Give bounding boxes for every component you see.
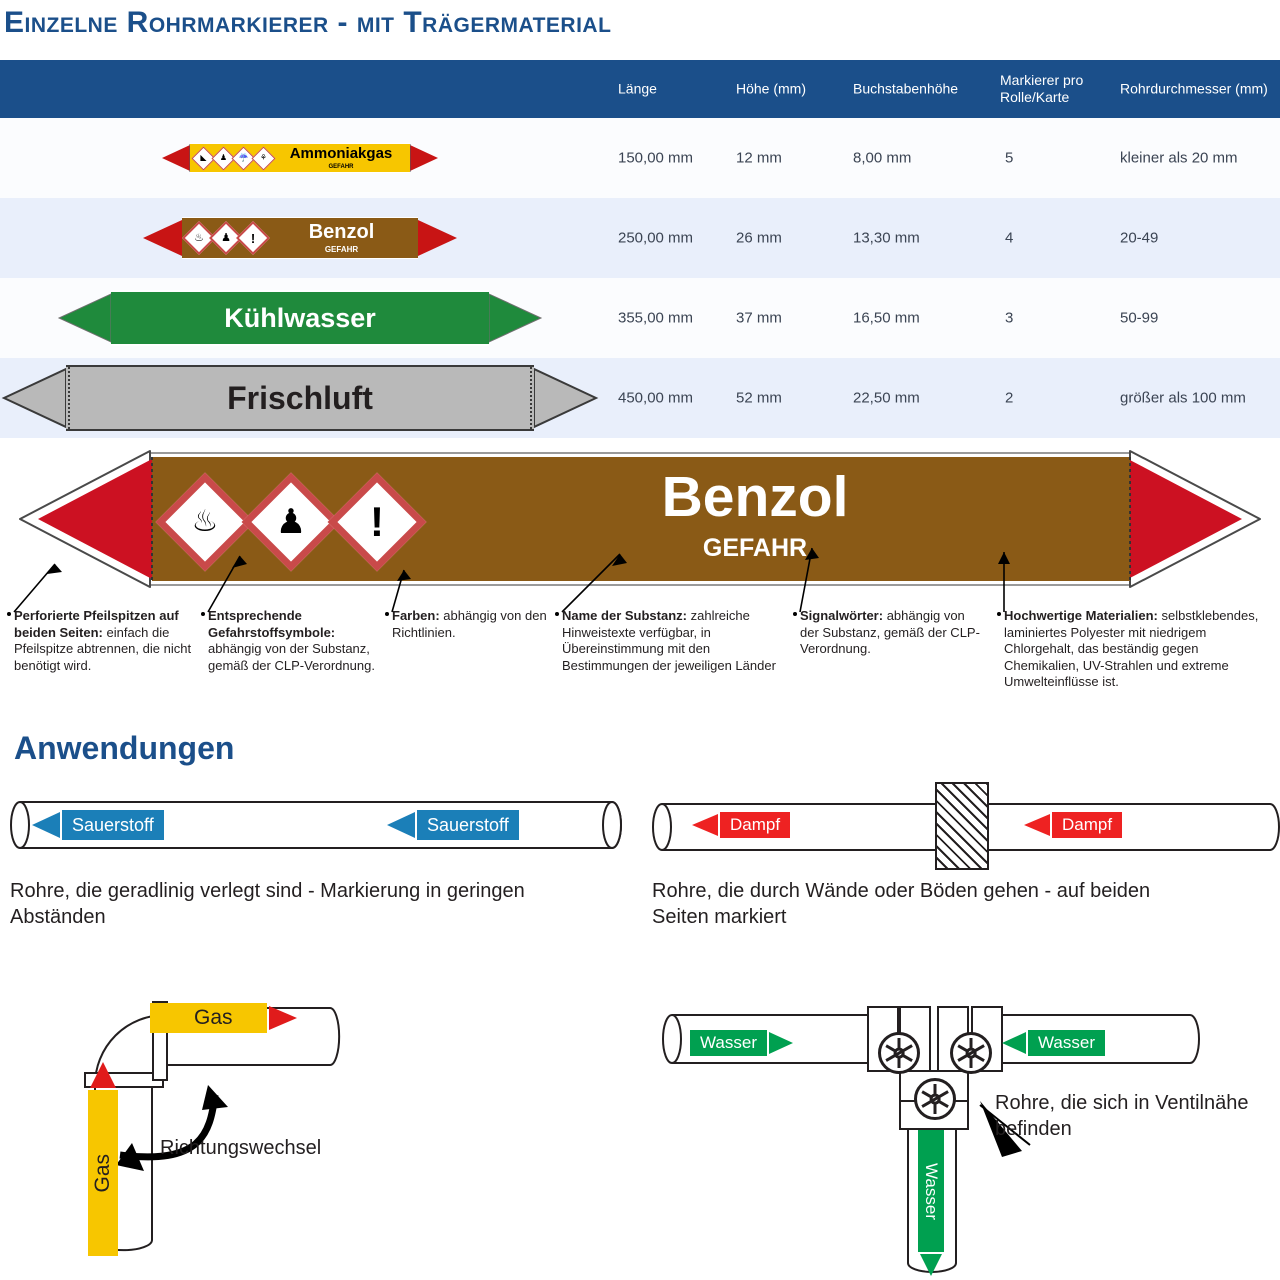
annotation-signalwoerter: Signalwörter: abhängig von der Substanz,… — [800, 608, 982, 658]
table-row: ◣ ♟ ☔ ⚘ Ammoniakgas GEFAHR 150,00 mm 12 … — [0, 118, 1280, 198]
arrow-tip-left — [160, 143, 190, 173]
cell-markierer-pro-rolle: 4 — [1005, 230, 1013, 247]
marker-preview-benzol: ♨ ♟ ! Benzol GEFAHR — [0, 198, 600, 278]
arrow-tip-left — [0, 365, 66, 431]
pictogram-group: ◣ ♟ ☔ ⚘ — [190, 150, 272, 167]
exclamation-icon: ! — [241, 226, 265, 250]
band-label: Wasser — [1028, 1033, 1105, 1053]
applications-heading: Anwendungen — [14, 730, 234, 767]
perforation-line-left — [68, 367, 70, 429]
annotation-title: Entsprechende Gefahrstoffsymbole: — [208, 608, 335, 640]
arrow-tip-left — [55, 290, 111, 346]
wall-hatch — [935, 782, 989, 870]
band-label: Gas — [91, 1154, 115, 1193]
marker-band-wasser-down: Wasser — [918, 1130, 944, 1278]
marker-band-sauerstoff-right: Sauerstoff — [385, 810, 519, 840]
marker-preview-frischluft: Frischluft — [0, 358, 600, 438]
arrow-tip-right — [410, 143, 440, 173]
column-header-hoehe: Höhe (mm) — [736, 81, 836, 98]
marker-body: ◣ ♟ ☔ ⚘ Ammoniakgas GEFAHR — [190, 143, 410, 173]
flame-icon: ♨ — [187, 226, 211, 250]
cell-laenge: 150,00 mm — [618, 150, 693, 167]
cell-buchstabenhoehe: 13,30 mm — [853, 230, 920, 247]
cell-hoehe: 37 mm — [736, 310, 782, 327]
marker-body: Frischluft — [66, 365, 534, 431]
annotation-bullet — [997, 612, 1001, 616]
table-row: Kühlwasser 355,00 mm 37 mm 16,50 mm 3 50… — [0, 278, 1280, 358]
cell-markierer-pro-rolle: 3 — [1005, 310, 1013, 327]
health-hazard-icon: ♟ — [215, 150, 232, 167]
caption-straight-pipe: Rohre, die geradlinig verlegt sind - Mar… — [10, 878, 570, 930]
band-label: Wasser — [921, 1163, 941, 1220]
marker-signal-word: GEFAHR — [325, 246, 358, 254]
pipe-marker-label: ◣ ♟ ☔ ⚘ Ammoniakgas GEFAHR — [160, 143, 440, 173]
annotation-bullet — [385, 612, 389, 616]
arrow-down-icon — [918, 1252, 944, 1278]
cell-rohrdurchmesser: 20-49 — [1120, 230, 1158, 247]
cell-hoehe: 12 mm — [736, 150, 782, 167]
arrow-right-icon — [767, 1030, 795, 1056]
band-label: Dampf — [720, 815, 790, 835]
corrosion-icon: ☔ — [235, 150, 252, 167]
arrow-tip-right — [534, 365, 600, 431]
marker-name: Kühlwasser — [224, 305, 376, 332]
annotation-bullet — [793, 612, 797, 616]
arrow-left-icon — [30, 810, 62, 840]
valve-wheel-bottom — [914, 1078, 956, 1120]
marker-band-dampf-left: Dampf — [690, 812, 790, 838]
arrow-left-icon — [1000, 1030, 1028, 1056]
annotation-bullet — [7, 612, 11, 616]
cell-laenge: 450,00 mm — [618, 390, 693, 407]
valve-wheel-right — [950, 1032, 992, 1074]
pipe-marker-label: ♨ ♟ ! Benzol GEFAHR — [140, 217, 460, 259]
marker-text: Ammoniakgas GEFAHR — [272, 146, 410, 170]
cell-laenge: 355,00 mm — [618, 310, 693, 327]
caption-valve-pipe: Rohre, die sich in Ventilnähe befinden — [995, 1090, 1280, 1142]
pictogram-group: ♨ ♟ ! — [182, 226, 265, 250]
marker-preview-kuehlwasser: Kühlwasser — [0, 278, 600, 358]
marker-band-gas-horizontal: Gas — [150, 1003, 299, 1033]
spec-table: Länge Höhe (mm) Buchstabenhöhe Markierer… — [0, 60, 1280, 438]
health-hazard-icon: ♟ — [214, 226, 238, 250]
marker-name: Frischluft — [227, 382, 373, 414]
cell-buchstabenhoehe: 22,50 mm — [853, 390, 920, 407]
marker-signal-word: GEFAHR — [328, 164, 353, 170]
band-fill: Wasser — [1028, 1030, 1105, 1056]
flame-icon: ◣ — [195, 150, 212, 167]
cell-laenge: 250,00 mm — [618, 230, 693, 247]
band-label: Dampf — [1052, 815, 1122, 835]
column-header-rohrdurchmesser: Rohrdurchmesser (mm) — [1120, 81, 1270, 98]
band-label: Sauerstoff — [417, 815, 519, 836]
pipe-marker-label: Kühlwasser — [55, 290, 545, 346]
cell-buchstabenhoehe: 8,00 mm — [853, 150, 911, 167]
marker-band-dampf-right: Dampf — [1022, 812, 1122, 838]
marker-name: Benzol — [309, 222, 375, 242]
band-fill: Sauerstoff — [417, 810, 519, 840]
marker-name: Ammoniakgas — [290, 146, 393, 161]
table-row: Frischluft 450,00 mm 52 mm 22,50 mm 2 gr… — [0, 358, 1280, 438]
annotation-hochwertige-materialien: Hochwertige Materialien: selbstklebendes… — [1004, 608, 1276, 691]
arrow-right-icon — [267, 1003, 299, 1033]
marker-text: Benzol GEFAHR — [265, 222, 418, 254]
band-label: Gas — [150, 1006, 267, 1030]
hero-marker-name: Benzol — [400, 469, 1110, 526]
arrow-tip-left — [140, 217, 182, 259]
cell-markierer-pro-rolle: 2 — [1005, 390, 1013, 407]
marker-body: Kühlwasser — [111, 290, 489, 346]
cell-hoehe: 26 mm — [736, 230, 782, 247]
arrow-left-icon — [1022, 812, 1052, 838]
cell-markierer-pro-rolle: 5 — [1005, 150, 1013, 167]
valve-wheel-left — [878, 1032, 920, 1074]
annotation-list: Perforierte Pfeilspitzen auf beiden Seit… — [0, 600, 1280, 730]
arrow-left-icon — [690, 812, 720, 838]
annotation-title: Signalwörter: — [800, 608, 883, 623]
band-fill: Dampf — [720, 812, 790, 838]
arrow-tip-right — [418, 217, 460, 259]
annotation-perforierte-pfeilspitzen: Perforierte Pfeilspitzen auf beiden Seit… — [14, 608, 194, 674]
page-title: Einzelne Rohrmarkierer - mit Trägermater… — [4, 6, 611, 40]
marker-band-wasser-right: Wasser — [1000, 1030, 1105, 1056]
cell-rohrdurchmesser: größer als 100 mm — [1120, 390, 1246, 407]
column-header-markierer-pro-rolle: Markierer pro Rolle/Karte — [1000, 72, 1110, 106]
pipe-marker-label: Frischluft — [0, 365, 600, 431]
marker-band-sauerstoff-left: Sauerstoff — [30, 810, 164, 840]
annotation-bullet — [201, 612, 205, 616]
perforation-line-right — [530, 367, 532, 429]
annotation-gefahrstoffsymbole: Entsprechende Gefahrstoffsymbole: abhäng… — [208, 608, 376, 674]
table-header-row: Länge Höhe (mm) Buchstabenhöhe Markierer… — [0, 60, 1280, 118]
marker-preview-ammoniakgas: ◣ ♟ ☔ ⚘ Ammoniakgas GEFAHR — [0, 118, 600, 198]
cell-rohrdurchmesser: kleiner als 20 mm — [1120, 150, 1238, 167]
cell-hoehe: 52 mm — [736, 390, 782, 407]
arrow-tip-right — [489, 290, 545, 346]
table-row: ♨ ♟ ! Benzol GEFAHR 250,00 mm 26 mm 13,3… — [0, 198, 1280, 278]
band-fill: Wasser — [918, 1130, 944, 1252]
annotation-name-der-substanz: Name der Substanz: zahlreiche Hinweistex… — [562, 608, 782, 674]
marker-text: Frischluft — [66, 382, 534, 414]
band-fill: Sauerstoff — [62, 810, 164, 840]
arrow-left-icon — [385, 810, 417, 840]
annotation-body: abhängig von der Substanz, gemäß der CLP… — [208, 641, 375, 673]
annotation-title: Farben: — [392, 608, 440, 623]
marker-body: ♨ ♟ ! Benzol GEFAHR — [182, 217, 418, 259]
column-header-buchstabenhoehe: Buchstabenhöhe — [853, 81, 988, 98]
band-fill: Gas — [88, 1090, 118, 1256]
column-header-laenge: Länge — [618, 81, 708, 98]
annotation-bullet — [555, 612, 559, 616]
annotation-title: Name der Substanz: — [562, 608, 687, 623]
caption-elbow-pipe: Richtungswechsel — [160, 1135, 420, 1161]
annotation-farben: Farben: abhängig von den Richtlinien. — [392, 608, 550, 641]
marker-text: Kühlwasser — [111, 305, 489, 332]
marker-band-wasser-left: Wasser — [690, 1030, 795, 1056]
band-fill: Wasser — [690, 1030, 767, 1056]
band-label: Sauerstoff — [62, 815, 164, 836]
caption-wall-pipe: Rohre, die durch Wände oder Böden gehen … — [652, 878, 1212, 930]
band-label: Wasser — [690, 1033, 767, 1053]
cell-buchstabenhoehe: 16,50 mm — [853, 310, 920, 327]
band-fill: Dampf — [1052, 812, 1122, 838]
marker-band-gas-vertical: Gas — [88, 1060, 118, 1256]
gas-cylinder-icon: ⚘ — [255, 150, 272, 167]
arrow-up-icon — [88, 1060, 118, 1090]
annotation-title: Hochwertige Materialien: — [1004, 608, 1158, 623]
band-fill: Gas — [150, 1003, 267, 1033]
cell-rohrdurchmesser: 50-99 — [1120, 310, 1158, 327]
